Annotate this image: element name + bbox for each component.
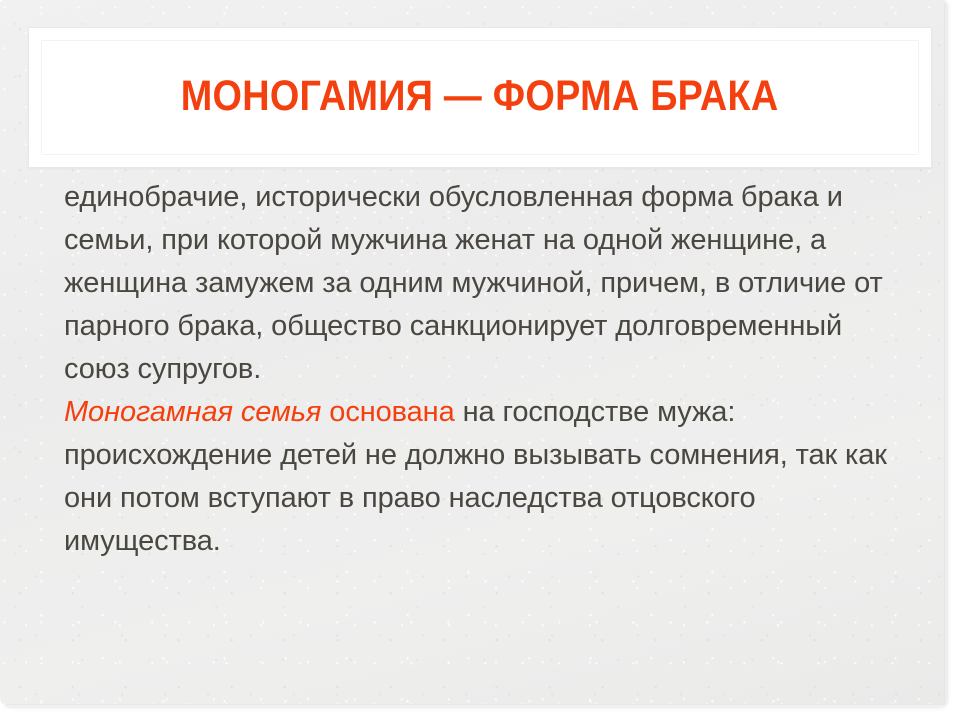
body-placeholder[interactable]: единобрачие, исторически обусловленная ф… — [64, 176, 900, 626]
title-inner-frame: Моногамия — форма брака — [41, 40, 919, 155]
slide-root: Моногамия — форма брака единобрачие, ист… — [0, 0, 960, 720]
emphasis-osnovana: основана — [329, 396, 454, 428]
slide-edge-bottom — [5, 704, 946, 707]
emphasis-monogamous-family: Моногамная семья — [64, 396, 321, 428]
definition-text: единобрачие, исторически обусловленная ф… — [64, 181, 883, 385]
title-placeholder[interactable]: Моногамия — форма брака — [28, 27, 932, 168]
paragraph-definition: единобрачие, исторически обусловленная ф… — [64, 176, 900, 391]
slide-title: Моногамия — форма брака — [181, 74, 779, 121]
slide-edge-right — [944, 4, 947, 704]
paragraph-monogamous-family: Моногамная семья основана на господстве … — [64, 391, 900, 563]
